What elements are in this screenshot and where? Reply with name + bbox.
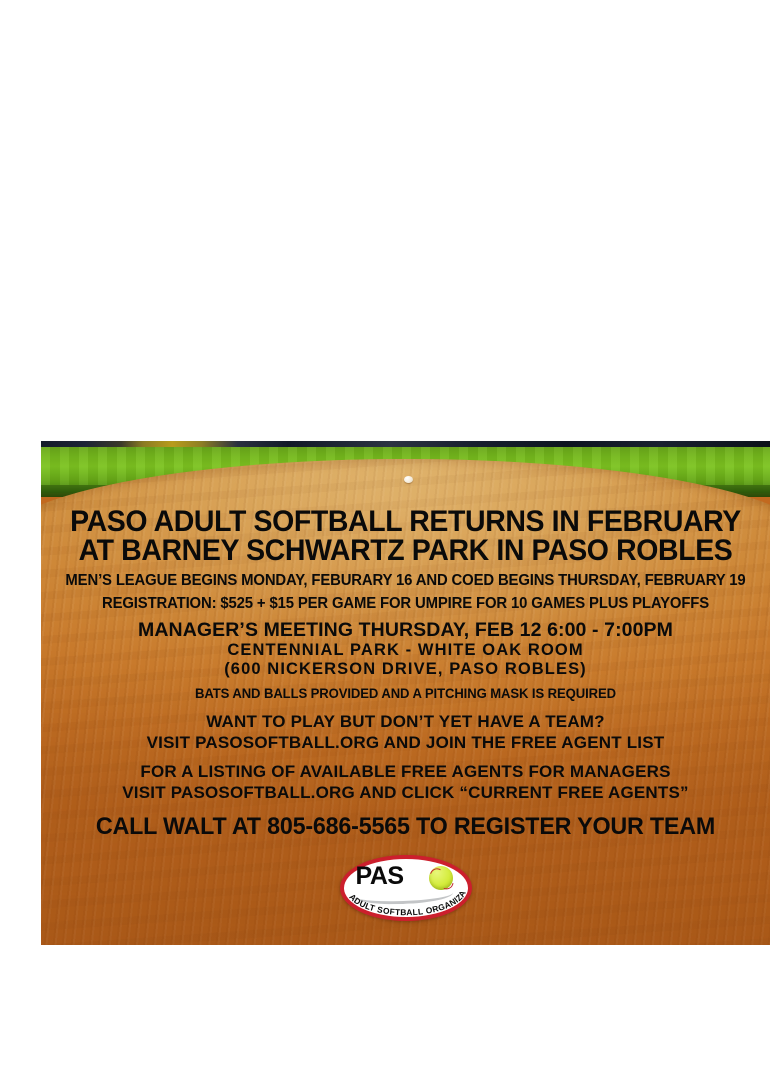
headline-line-1: PASO ADULT SOFTBALL RETURNS IN FEBRUARY <box>54 507 757 536</box>
managers-meeting-datetime: MANAGER’S MEETING THURSDAY, FEB 12 6:00 … <box>41 619 770 642</box>
paso-adult-softball-logo: PAS PASO ADULT SOFTBALL ORGANIZATION <box>340 855 472 921</box>
free-agent-question: WANT TO PLAY BUT DON’T YET HAVE A TEAM? <box>41 712 770 732</box>
subhead-registration-fees: REGISTRATION: $525 + $15 PER GAME FOR UM… <box>56 595 756 613</box>
managers-meeting-venue: CENTENNIAL PARK - WHITE OAK ROOM <box>41 641 770 660</box>
softball-league-flyer: PASO ADULT SOFTBALL RETURNS IN FEBRUARY … <box>41 441 770 945</box>
free-agent-listing-instruction: VISIT PASOSOFTBALL.ORG AND CLICK “CURREN… <box>41 783 770 803</box>
logo-arc-textpath: PASO ADULT SOFTBALL ORGANIZATION <box>340 892 468 917</box>
free-agent-listing-heading: FOR A LISTING OF AVAILABLE FREE AGENTS F… <box>41 762 770 782</box>
flyer-text-content: PASO ADULT SOFTBALL RETURNS IN FEBRUARY … <box>41 441 770 945</box>
call-to-action-phone: CALL WALT AT 805-686-5565 TO REGISTER YO… <box>52 813 759 841</box>
logo-wordmark: PAS <box>356 864 404 889</box>
free-agent-join-instruction: VISIT PASOSOFTBALL.ORG AND JOIN THE FREE… <box>41 733 770 753</box>
equipment-note: BATS AND BALLS PROVIDED AND A PITCHING M… <box>52 686 759 701</box>
softball-icon <box>429 866 453 890</box>
logo-arc-text-group: PASO ADULT SOFTBALL ORGANIZATION <box>340 892 472 920</box>
headline-line-2: AT BARNEY SCHWARTZ PARK IN PASO ROBLES <box>54 536 757 565</box>
logo-arc-text: PASO ADULT SOFTBALL ORGANIZATION <box>340 892 468 917</box>
subhead-season-dates: MEN’S LEAGUE BEGINS MONDAY, FEBURARY 16 … <box>56 572 756 590</box>
managers-meeting-address: (600 NICKERSON DRIVE, PASO ROBLES) <box>41 660 770 679</box>
